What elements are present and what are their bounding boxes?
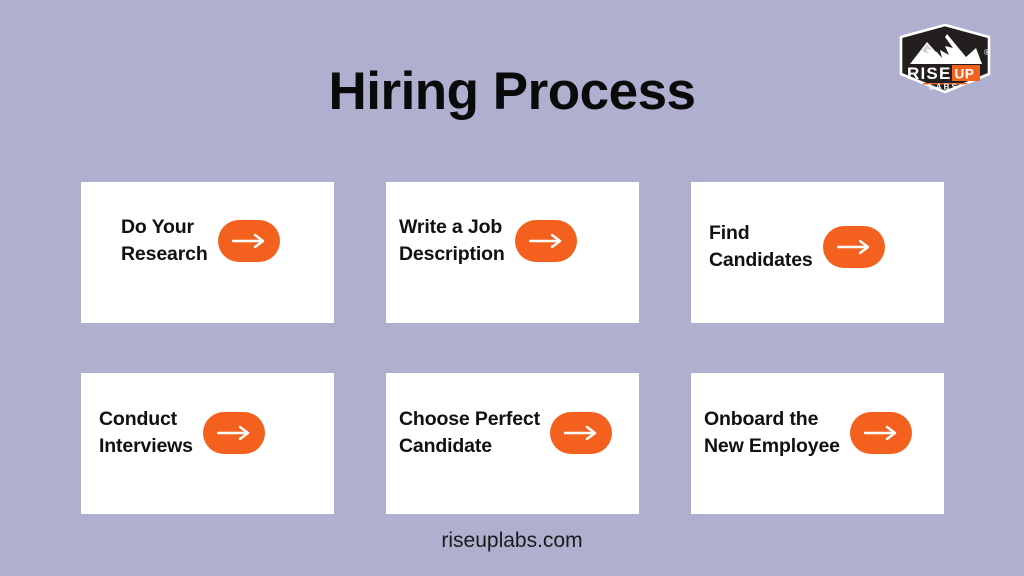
card-label: Do Your Research	[121, 214, 208, 268]
card-content: Find Candidates	[691, 220, 944, 274]
process-step-card[interactable]: Choose Perfect Candidate	[386, 373, 639, 514]
process-step-card[interactable]: Conduct Interviews	[81, 373, 334, 514]
arrow-right-icon[interactable]	[850, 412, 912, 454]
card-label: Onboard the New Employee	[704, 406, 840, 460]
card-label: Choose Perfect Candidate	[399, 406, 540, 460]
footer-website-url: riseuplabs.com	[0, 529, 1024, 553]
card-content: Do Your Research	[81, 214, 334, 268]
process-step-card[interactable]: Write a Job Description	[386, 182, 639, 323]
arrow-right-icon[interactable]	[823, 226, 885, 268]
card-label: Conduct Interviews	[99, 406, 193, 460]
card-label: Find Candidates	[709, 220, 813, 274]
process-step-card[interactable]: Onboard the New Employee	[691, 373, 944, 514]
card-content: Choose Perfect Candidate	[386, 406, 639, 460]
arrow-right-icon[interactable]	[203, 412, 265, 454]
card-content: Onboard the New Employee	[691, 406, 944, 460]
card-label: Write a Job Description	[399, 214, 505, 268]
card-content: Conduct Interviews	[81, 406, 334, 460]
process-step-card[interactable]: Do Your Research	[81, 182, 334, 323]
registered-trademark-icon: ®	[984, 48, 990, 57]
process-step-card[interactable]: Find Candidates	[691, 182, 944, 323]
arrow-right-icon[interactable]	[218, 220, 280, 262]
slide-canvas: RISE UP LABS ® Hiring Process Do Your Re…	[0, 0, 1024, 576]
arrow-right-icon[interactable]	[515, 220, 577, 262]
arrow-right-icon[interactable]	[550, 412, 612, 454]
card-content: Write a Job Description	[386, 214, 639, 268]
page-title: Hiring Process	[0, 62, 1024, 121]
